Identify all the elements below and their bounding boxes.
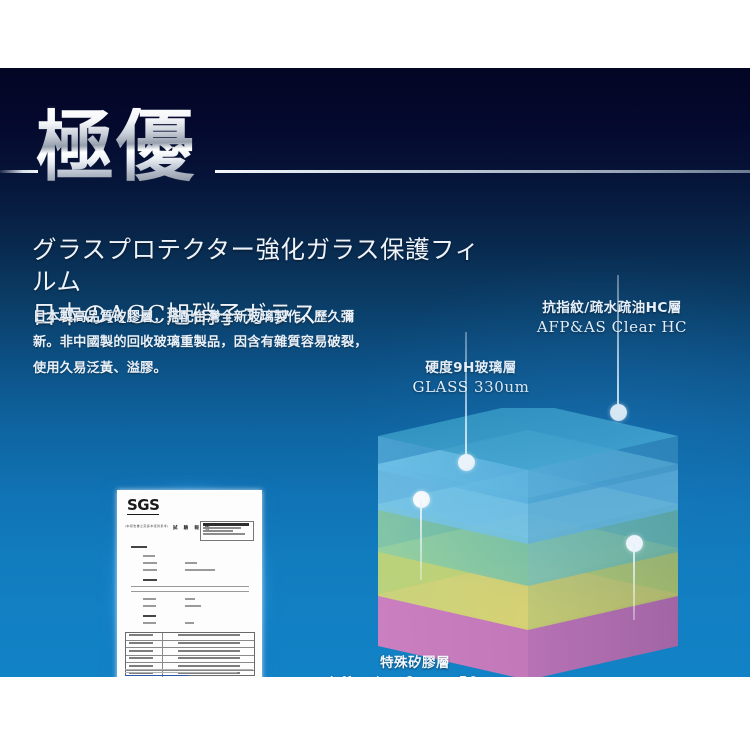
subheadline-line-1: グラスプロテクター強化ガラス保護フィルム [32,234,502,299]
callout-adhering-en: Adhering Layer 50um [310,673,520,677]
callout-line-hc [617,275,619,406]
body-paragraph: 日本製高品質矽膠層，搭配台灣全新玻璃製作，歷久彌新。非中國製的回收玻璃重製品，因… [33,305,379,381]
silver-rule-right [215,170,750,173]
callout-line-glass [465,332,467,461]
callout-adhering-cn: 特殊矽膠層 [310,651,520,671]
certificate-ref-code: (本報告書之英譯本僅供參考) [125,524,169,528]
sgs-logo: SGS [127,498,159,515]
headline-row: 極優 [0,122,750,218]
callout-glass-cn: 硬度9H玻璃層 [376,356,566,376]
callout-glass-en: GLASS 330um [376,378,566,396]
callout-dot-hc [610,404,627,421]
poster-root: 極優 グラスプロテクター強化ガラス保護フィルム 日本のAGC旭硝子ガラス 日本製… [0,0,750,750]
callout-line-pet [633,544,635,620]
certificate-footer [125,669,253,677]
sgs-certificate[interactable]: SGS (本報告書之英譯本僅供參考) 試 驗 報 告 [106,480,273,677]
certificate-paper: SGS (本報告書之英譯本僅供參考) 試 驗 報 告 [117,490,262,677]
silver-rule-left [0,170,38,173]
callout-label-glass: 硬度9H玻璃層 GLASS 330um [376,356,566,396]
callout-label-adhering: 特殊矽膠層 Adhering Layer 50um [310,651,520,677]
callout-line-adhering [420,500,422,580]
main-gradient-panel: 極優 グラスプロテクター強化ガラス保護フィルム 日本のAGC旭硝子ガラス 日本製… [0,68,750,677]
callout-hc-cn: 抗指紋/疏水疏油HC層 [512,296,712,316]
layer-stack-diagram [378,408,718,677]
callout-dot-glass [458,454,475,471]
callout-label-hc: 抗指紋/疏水疏油HC層 AFP&AS Clear HC [512,296,712,336]
callout-hc-en: AFP&AS Clear HC [512,318,712,336]
certificate-stamp-block [200,521,254,541]
brand-title: 極優 [36,108,196,186]
